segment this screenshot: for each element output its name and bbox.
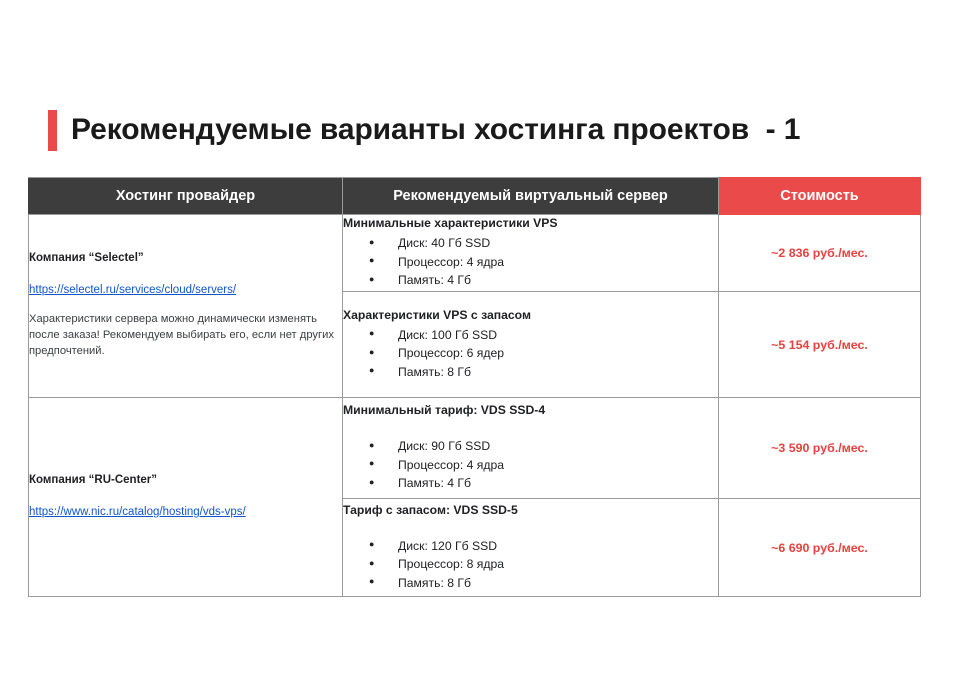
hosting-options-table: Хостинг провайдер Рекомендуемый виртуаль… [28,177,921,597]
provider-cell-selectel: Компания “Selectel” https://selectel.ru/… [29,215,343,398]
spec-list: Диск: 40 Гб SSD Процессор: 4 ядра Память… [343,234,718,290]
spec-item: Память: 8 Гб [343,363,718,382]
server-spec-cell: Тариф с запасом: VDS SSD-5 Диск: 120 Гб … [343,499,719,597]
title-accent-bar [48,110,57,151]
spec-title: Минимальный тариф: VDS SSD-4 [343,403,718,419]
server-spec-cell: Минимальный тариф: VDS SSD-4 Диск: 90 Гб… [343,398,719,499]
spec-list: Диск: 100 Гб SSD Процессор: 6 ядер Памят… [343,326,718,382]
spec-item: Процессор: 4 ядра [343,456,718,475]
table-header-row: Хостинг провайдер Рекомендуемый виртуаль… [29,178,921,215]
page-title: Рекомендуемые варианты хостинга проектов… [48,107,800,153]
provider-name: Компания “RU-Center” [29,474,342,488]
table-body: Компания “Selectel” https://selectel.ru/… [29,215,921,597]
spec-item: Память: 8 Гб [343,574,718,593]
spec-title: Характеристики VPS с запасом [343,308,718,324]
provider-link[interactable]: https://www.nic.ru/catalog/hosting/vds-v… [29,505,342,520]
spec-item: Диск: 120 Гб SSD [343,537,718,556]
table-header: Хостинг провайдер Рекомендуемый виртуаль… [29,178,921,215]
table-row: Компания “Selectel” https://selectel.ru/… [29,215,921,292]
price-value: ~2 836 руб./мес. [771,246,868,260]
spec-list: Диск: 90 Гб SSD Процессор: 4 ядра Память… [343,437,718,493]
spec-item: Процессор: 4 ядра [343,253,718,272]
spec-item: Память: 4 Гб [343,271,718,290]
spec-item: Диск: 100 Гб SSD [343,326,718,345]
price-cell: ~6 690 руб./мес. [719,499,921,597]
column-header-price: Стоимость [719,178,921,215]
spec-item: Процессор: 8 ядра [343,555,718,574]
price-cell: ~3 590 руб./мес. [719,398,921,499]
price-cell: ~5 154 руб./мес. [719,292,921,398]
spec-item: Диск: 90 Гб SSD [343,437,718,456]
server-spec-cell: Характеристики VPS с запасом Диск: 100 Г… [343,292,719,398]
spec-item: Память: 4 Гб [343,474,718,493]
spec-item: Процессор: 6 ядер [343,344,718,363]
provider-link[interactable]: https://selectel.ru/services/cloud/serve… [29,283,342,298]
spec-title: Тариф с запасом: VDS SSD-5 [343,503,718,519]
spec-list: Диск: 120 Гб SSD Процессор: 8 ядра Памят… [343,537,718,593]
price-value: ~3 590 руб./мес. [771,441,868,455]
spec-item: Диск: 40 Гб SSD [343,234,718,253]
column-header-server: Рекомендуемый виртуальный сервер [343,178,719,215]
spec-title: Минимальные характеристики VPS [343,216,718,232]
price-value: ~6 690 руб./мес. [771,541,868,555]
price-value: ~5 154 руб./мес. [771,338,868,352]
provider-cell-ru-center: Компания “RU-Center” https://www.nic.ru/… [29,398,343,597]
provider-name: Компания “Selectel” [29,252,342,266]
table-row: Компания “RU-Center” https://www.nic.ru/… [29,398,921,499]
provider-note: Характеристики сервера можно динамически… [29,312,342,360]
server-spec-cell: Минимальные характеристики VPS Диск: 40 … [343,215,719,292]
column-header-provider: Хостинг провайдер [29,178,343,215]
slide-canvas: Рекомендуемые варианты хостинга проектов… [0,0,960,700]
page-title-text: Рекомендуемые варианты хостинга проектов… [71,115,800,145]
price-cell: ~2 836 руб./мес. [719,215,921,292]
